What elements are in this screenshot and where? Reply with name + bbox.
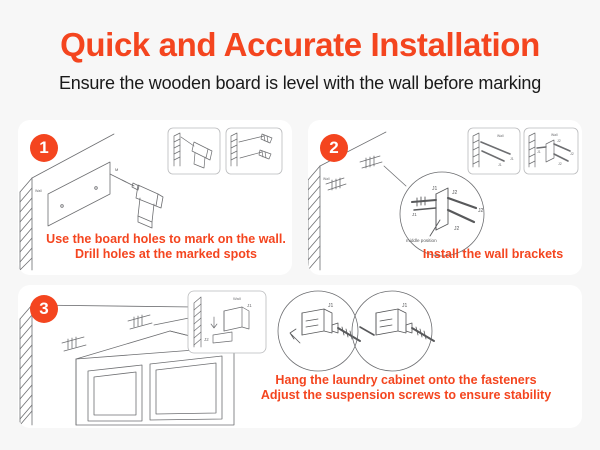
screw-label-j1-detail-left: J1 [412, 212, 417, 217]
drill-icon [122, 180, 163, 228]
inset-wall-label-2c: Wall [551, 133, 558, 137]
inset-j2-label-3: J2 [204, 337, 209, 342]
inset-j2-label-2a: J2 [557, 139, 561, 143]
middle-position-label: middle position [406, 238, 437, 243]
detail-circle-suspension-tighten: J1 [352, 291, 434, 371]
page-title: Quick and Accurate Installation [0, 0, 600, 64]
wall-label-2: Wall [323, 177, 330, 181]
step-badge-3: 3 [30, 295, 58, 323]
screw-label-j2-detail-bottom: J2 [454, 226, 460, 232]
screw-label-j2-detail-top: J2 [452, 190, 458, 196]
step-panel-2: Wall J1 J2 J2 J2 J1 middle positio [308, 120, 582, 275]
step-3-illustration: Wall J1 J2 J1 [18, 285, 582, 428]
inset-j2-label-2c: J2 [558, 162, 562, 166]
inset-bracket-j1-j2: Wall J1 J2 J2 J2 [524, 128, 578, 174]
step-3-caption: Hang the laundry cabinet onto the fasten… [236, 373, 576, 403]
wall-label-1: Wall [35, 189, 42, 193]
step-badge-1: 1 [30, 134, 58, 162]
inset-drill-into-wall [168, 128, 220, 174]
mark-label: M [115, 167, 118, 172]
inset-j1-label-2a: J1 [510, 157, 514, 161]
detail-circle-suspension-loosen: J1 [278, 291, 360, 371]
inset-bracket-hook: Wall J1 J2 [188, 291, 266, 353]
inset-screws-j1-wall: Wall J1 J1 [468, 128, 520, 174]
screw-label-j1-detail: J1 [432, 186, 438, 192]
step-2-caption: Install the wall brackets [408, 247, 578, 262]
page-subtitle: Ensure the wooden board is level with th… [0, 64, 600, 94]
detail-j1-label-b: J1 [402, 303, 408, 309]
detail-j1-label-a: J1 [328, 303, 334, 309]
screw-label-j2-detail-right: J2 [478, 208, 484, 214]
header: Quick and Accurate Installation Ensure t… [0, 0, 600, 112]
inset-j1-label-2c: J1 [537, 150, 541, 154]
inset-j2-label-2b: J2 [570, 152, 574, 156]
bracket-middle-position-detail [412, 188, 476, 236]
step-3-caption-line-2: Adjust the suspension screws to ensure s… [236, 388, 576, 403]
inset-wall-label-2a: Wall [497, 134, 504, 138]
step-badge-2: 2 [320, 134, 348, 162]
step-panel-1: Wall M [18, 120, 292, 275]
step-3-caption-line-1: Hang the laundry cabinet onto the fasten… [236, 373, 576, 388]
inset-j1-label-3: J1 [247, 303, 252, 308]
inset-wall-label-3: Wall [233, 296, 241, 301]
step-panel-3: Wall J1 J2 J1 [18, 285, 582, 428]
inset-j1-label-2b: J1 [498, 163, 502, 167]
step-1-caption: Use the board holes to mark on the wall.… [40, 232, 292, 262]
inset-anchors-into-wall [226, 128, 282, 174]
